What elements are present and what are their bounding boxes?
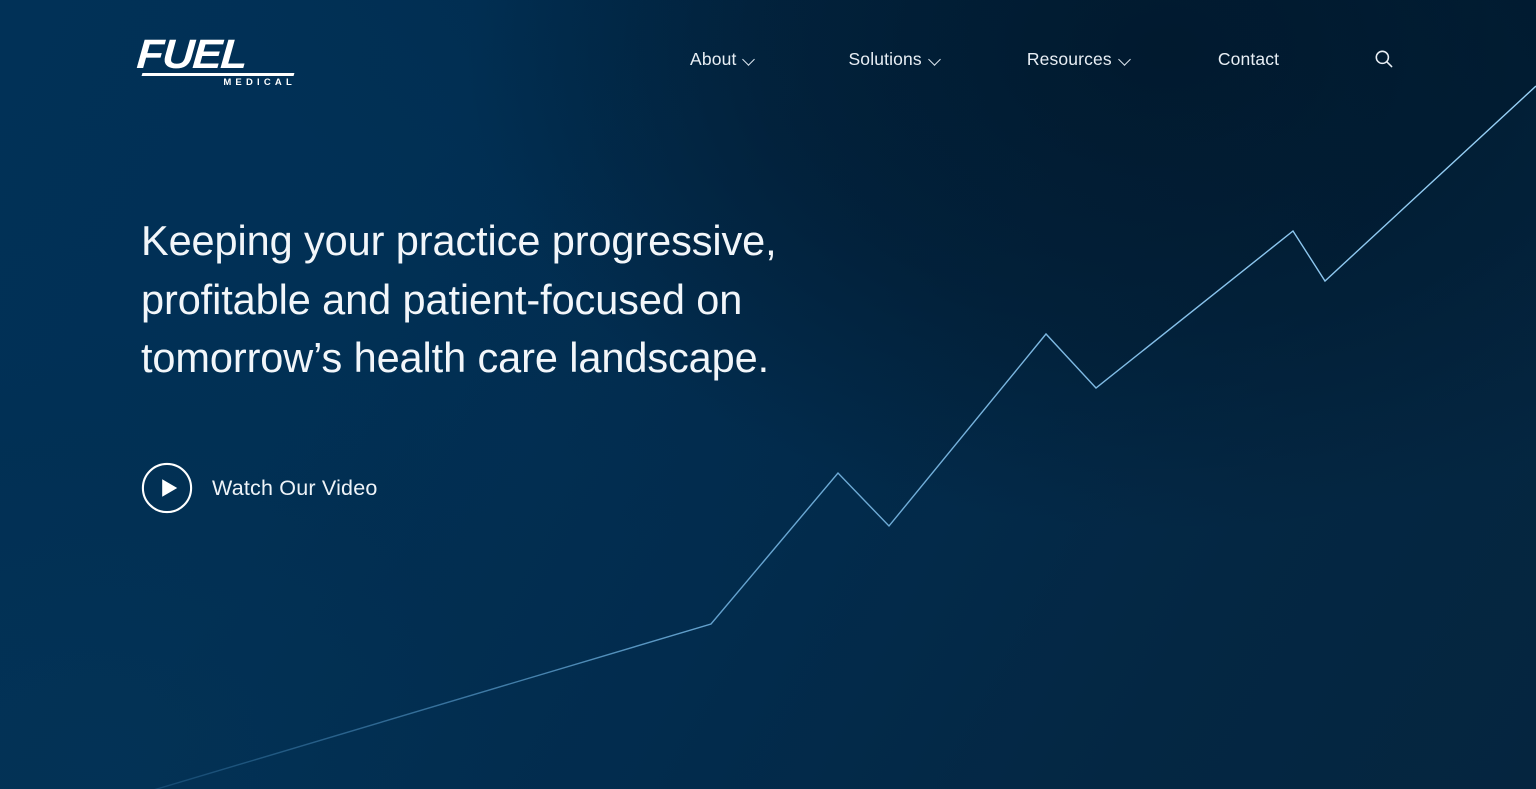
chevron-down-icon	[744, 55, 755, 66]
chevron-down-icon	[930, 55, 941, 66]
nav-item-resources[interactable]: Resources	[1027, 49, 1131, 70]
chevron-down-icon	[1120, 55, 1131, 66]
hero-content: Keeping your practice progressive, profi…	[141, 212, 901, 388]
nav-label-contact: Contact	[1218, 49, 1279, 70]
nav-item-solutions[interactable]: Solutions	[848, 49, 940, 70]
chart-line	[120, 86, 1536, 789]
hero-headline-line-1: Keeping your practice progressive,	[141, 212, 901, 271]
nav-label-resources: Resources	[1027, 49, 1112, 70]
hero-headline: Keeping your practice progressive, profi…	[141, 212, 901, 388]
nav-label-about: About	[690, 49, 736, 70]
hero-page: FUEL MEDICAL About Solutions Resources C…	[0, 0, 1536, 789]
chart-upper-shade	[120, 0, 1536, 789]
logo-fuel-medical[interactable]: FUEL MEDICAL	[137, 33, 297, 85]
search-button[interactable]	[1369, 44, 1399, 74]
nav-item-contact[interactable]: Contact	[1218, 49, 1279, 70]
play-circle-icon	[141, 462, 193, 514]
nav-item-about[interactable]: About	[690, 49, 755, 70]
watch-video-link[interactable]: Watch Our Video	[141, 462, 378, 514]
primary-navigation: About Solutions Resources Contact	[690, 0, 1399, 118]
hero-headline-line-2: profitable and patient-focused on	[141, 271, 901, 330]
logo-underline-bar	[142, 73, 295, 76]
site-header: FUEL MEDICAL About Solutions Resources C…	[0, 0, 1536, 118]
logo-wordmark: FUEL	[136, 33, 312, 75]
watch-video-label: Watch Our Video	[212, 476, 378, 501]
logo-subtext: MEDICAL	[223, 77, 296, 89]
nav-label-solutions: Solutions	[848, 49, 921, 70]
search-icon	[1373, 48, 1395, 70]
hero-headline-line-3: tomorrow’s health care landscape.	[141, 329, 901, 388]
background-line-chart	[0, 0, 1536, 789]
